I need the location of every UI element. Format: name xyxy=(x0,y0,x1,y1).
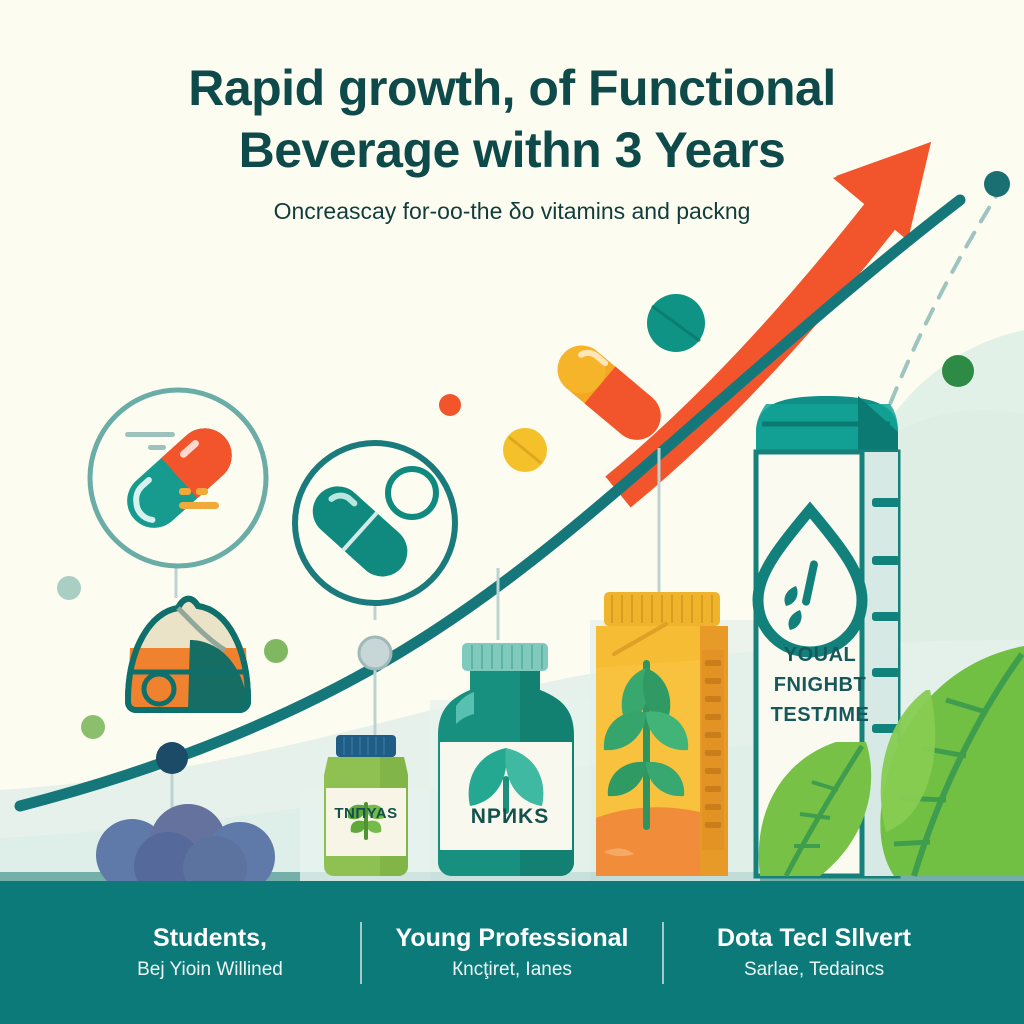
footer-sub-2: Кncţiret, Ianes xyxy=(368,956,656,984)
footer-column-1: Students, Bej Yioin Willined xyxy=(60,922,360,984)
page-subtitle: Oncreascay for-oo-the δo vitamins and pa… xyxy=(0,196,1024,226)
footer-title-2: Young Professional xyxy=(368,922,656,954)
page-title-line-1: Rapid growth, of Functional xyxy=(0,58,1024,118)
carton-label: YOUAL FNIGHBT TESTЛME xyxy=(760,640,880,730)
footer-sub-3: Sarlae, Tedaincs xyxy=(670,956,958,984)
footer-title-1: Students, xyxy=(66,922,354,954)
carton-label-line-3: TESTЛME xyxy=(760,700,880,730)
footer-bar: Students, Bej Yioin Willined Young Profe… xyxy=(0,881,1024,1024)
footer-column-2: Young Professional Кncţiret, Ianes xyxy=(362,922,662,984)
carton-label-line-2: FNIGHBT xyxy=(760,670,880,700)
small-bottle-label: TNПYAS xyxy=(318,805,414,822)
header-block: Rapid growth, of Functional Beverage wit… xyxy=(0,58,1024,226)
footer-title-3: Dota Tecl Sllvert xyxy=(670,922,958,954)
leaf-icon-small xyxy=(759,742,871,876)
mid-bottle-label: NPИKS xyxy=(455,805,565,829)
footer-column-3: Dota Tecl Sllvert Sarlae, Tedaincs xyxy=(664,922,964,984)
carton-label-line-1: YOUAL xyxy=(760,640,880,670)
infographic-poster: Rapid growth, of Functional Beverage wit… xyxy=(0,0,1024,1024)
footer-columns: Students, Bej Yioin Willined Young Profe… xyxy=(0,881,1024,1024)
page-title-line-2: Beverage withn 3 Years xyxy=(0,120,1024,180)
footer-sub-1: Bej Yioin Willined xyxy=(66,956,354,984)
